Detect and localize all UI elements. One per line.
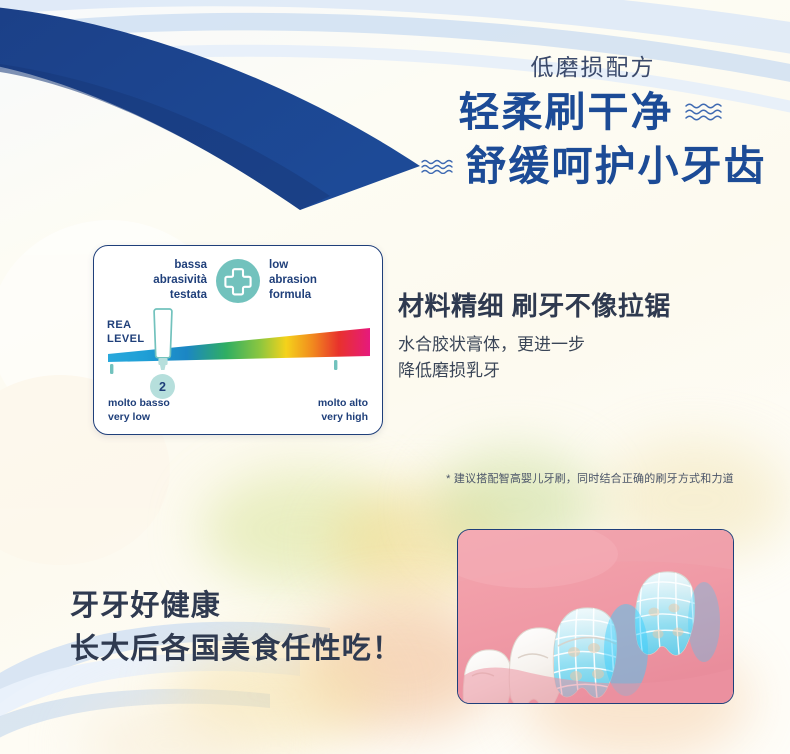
- headline-row-1: 轻柔刷干净: [396, 88, 790, 136]
- rea-value-badge: 2: [150, 374, 175, 399]
- rea-label-english: low abrasion formula: [269, 258, 354, 304]
- headline-row-2: 舒缓呵护小牙齿: [396, 142, 790, 190]
- bottom-headline-line-1: 牙牙好健康: [70, 585, 402, 628]
- scale-label-high: molto alto very high: [318, 397, 368, 424]
- headline-line-1: 轻柔刷干净: [459, 88, 674, 136]
- abrasion-scale: [94, 306, 382, 386]
- headline-block: 低磨损配方 轻柔刷干净: [396, 54, 790, 190]
- footnote-text: * 建议搭配智高婴儿牙刷，同时结合正确的刷牙方式和力道: [390, 470, 790, 486]
- body-heading: 材料精细 刷牙不像拉锯: [398, 290, 790, 323]
- bottom-headline-block: 牙牙好健康 长大后各国美食任性吃！: [70, 585, 402, 671]
- scale-label-low: molto basso very low: [108, 397, 170, 424]
- body-subtext-line-2: 降低磨损乳牙: [398, 358, 790, 384]
- bottom-headline-line-2: 长大后各国美食任性吃！: [70, 628, 402, 671]
- tooth-with-shield-mesh-icon: [457, 529, 734, 704]
- kicker-text: 低磨损配方: [396, 54, 790, 82]
- rea-card-header: bassa abrasività testata low abrasion fo…: [94, 258, 382, 304]
- body-subtext-line-1: 水合胶状膏体，更进一步: [398, 332, 790, 358]
- rea-abrasion-card: bassa abrasività testata low abrasion fo…: [93, 245, 383, 435]
- toothpaste-tube-icon: [143, 305, 183, 377]
- headline-line-2: 舒缓呵护小牙齿: [466, 142, 767, 190]
- promo-page: 低磨损配方 轻柔刷干净: [0, 0, 790, 754]
- body-subtext: 水合胶状膏体，更进一步 降低磨损乳牙: [398, 332, 790, 385]
- wave-lines-icon: [420, 158, 456, 174]
- body-copy-block: 材料精细 刷牙不像拉锯 水合胶状膏体，更进一步 降低磨损乳牙: [398, 290, 790, 384]
- cross-icon: [216, 259, 260, 303]
- wave-lines-icon: [684, 101, 728, 123]
- rea-label-italian: bassa abrasività testata: [122, 258, 207, 304]
